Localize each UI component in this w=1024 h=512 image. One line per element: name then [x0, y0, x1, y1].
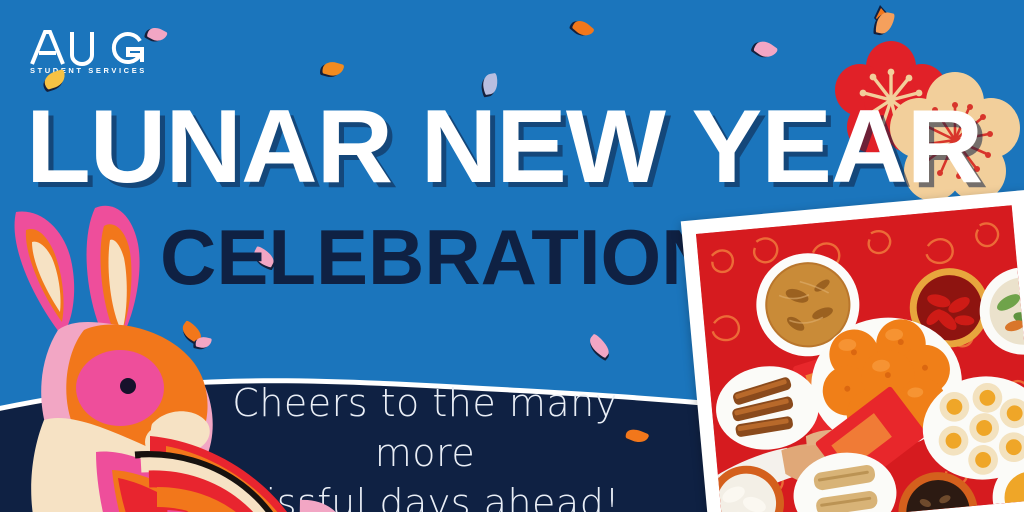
confetti-petal-orange-4 [625, 426, 650, 445]
lunar-new-year-feast-photo[interactable] [681, 190, 1024, 512]
confetti-petal-pink-5 [195, 336, 212, 350]
lunar-new-year-banner: STUDENT SERVICES LUNAR NEW YEAR CELEBRAT… [0, 0, 1024, 512]
photo-image [696, 205, 1024, 512]
confetti-petal-pink-4 [586, 333, 613, 358]
